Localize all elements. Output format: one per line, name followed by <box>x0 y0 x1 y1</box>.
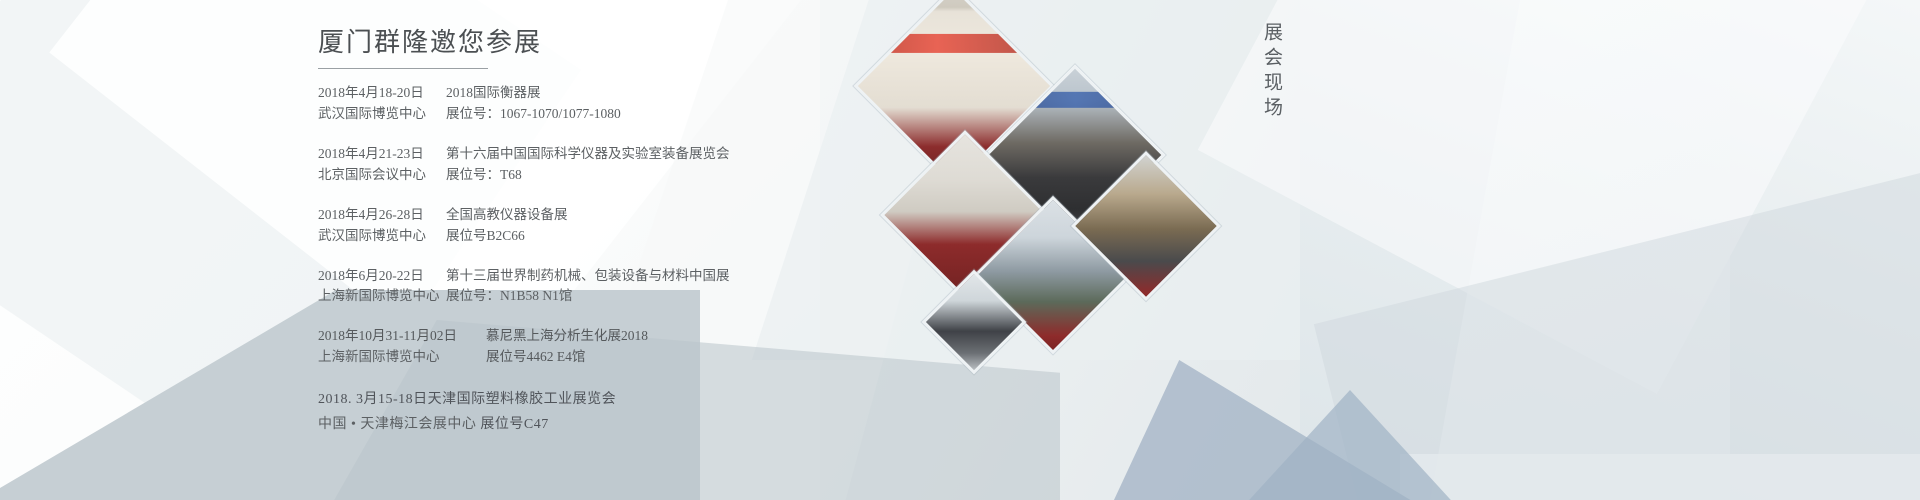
event-venue: 上海新国际博览中心 <box>318 347 486 368</box>
event-booth: 展位号：1067-1070/1077-1080 <box>446 104 621 125</box>
event-name: 慕尼黑上海分析生化展2018 <box>486 326 648 347</box>
event-booth: 展位号：T68 <box>446 165 522 186</box>
event-venue: 中国 • 天津梅江会展中心 <box>318 417 476 432</box>
event-venue: 上海新国际博览中心 <box>318 286 446 307</box>
event-date: 2018. 3月15-18日天津国际塑料橡胶工业展览会 <box>318 392 616 407</box>
event-venue: 北京国际会议中心 <box>318 165 446 186</box>
event-date: 2018年4月18-20日 <box>318 83 446 104</box>
event-row-venue: 中国 • 天津梅江会展中心 展位号C47 <box>318 412 1098 437</box>
event-date: 2018年4月26-28日 <box>318 205 446 226</box>
event-date: 2018年6月20-22日 <box>318 266 446 287</box>
background-facet-12 <box>1400 454 1920 500</box>
event-booth: 展位号C47 <box>480 417 548 432</box>
event-name: 第十三届世界制药机械、包装设备与材料中国展 <box>446 266 730 287</box>
event-date: 2018年4月21-23日 <box>318 144 446 165</box>
event-booth: 展位号B2C66 <box>446 226 525 247</box>
photo-collage <box>845 0 1205 415</box>
event-venue: 武汉国际博览中心 <box>318 104 446 125</box>
event-name: 2018国际衡器展 <box>446 83 541 104</box>
event-date: 2018年10月31-11月02日 <box>318 326 486 347</box>
banner-stage: 厦门群隆邀您参展 2018年4月18-20日 2018国际衡器展 武汉国际博览中… <box>0 0 1920 500</box>
event-booth: 展位号：N1B58 N1馆 <box>446 286 572 307</box>
event-name: 全国高教仪器设备展 <box>446 205 568 226</box>
title-divider <box>318 68 488 69</box>
vertical-section-label: 展会现场 <box>1258 22 1285 122</box>
event-venue: 武汉国际博览中心 <box>318 226 446 247</box>
event-name: 第十六届中国国际科学仪器及实验室装备展览会 <box>446 144 730 165</box>
event-booth: 展位号4462 E4馆 <box>486 347 585 368</box>
